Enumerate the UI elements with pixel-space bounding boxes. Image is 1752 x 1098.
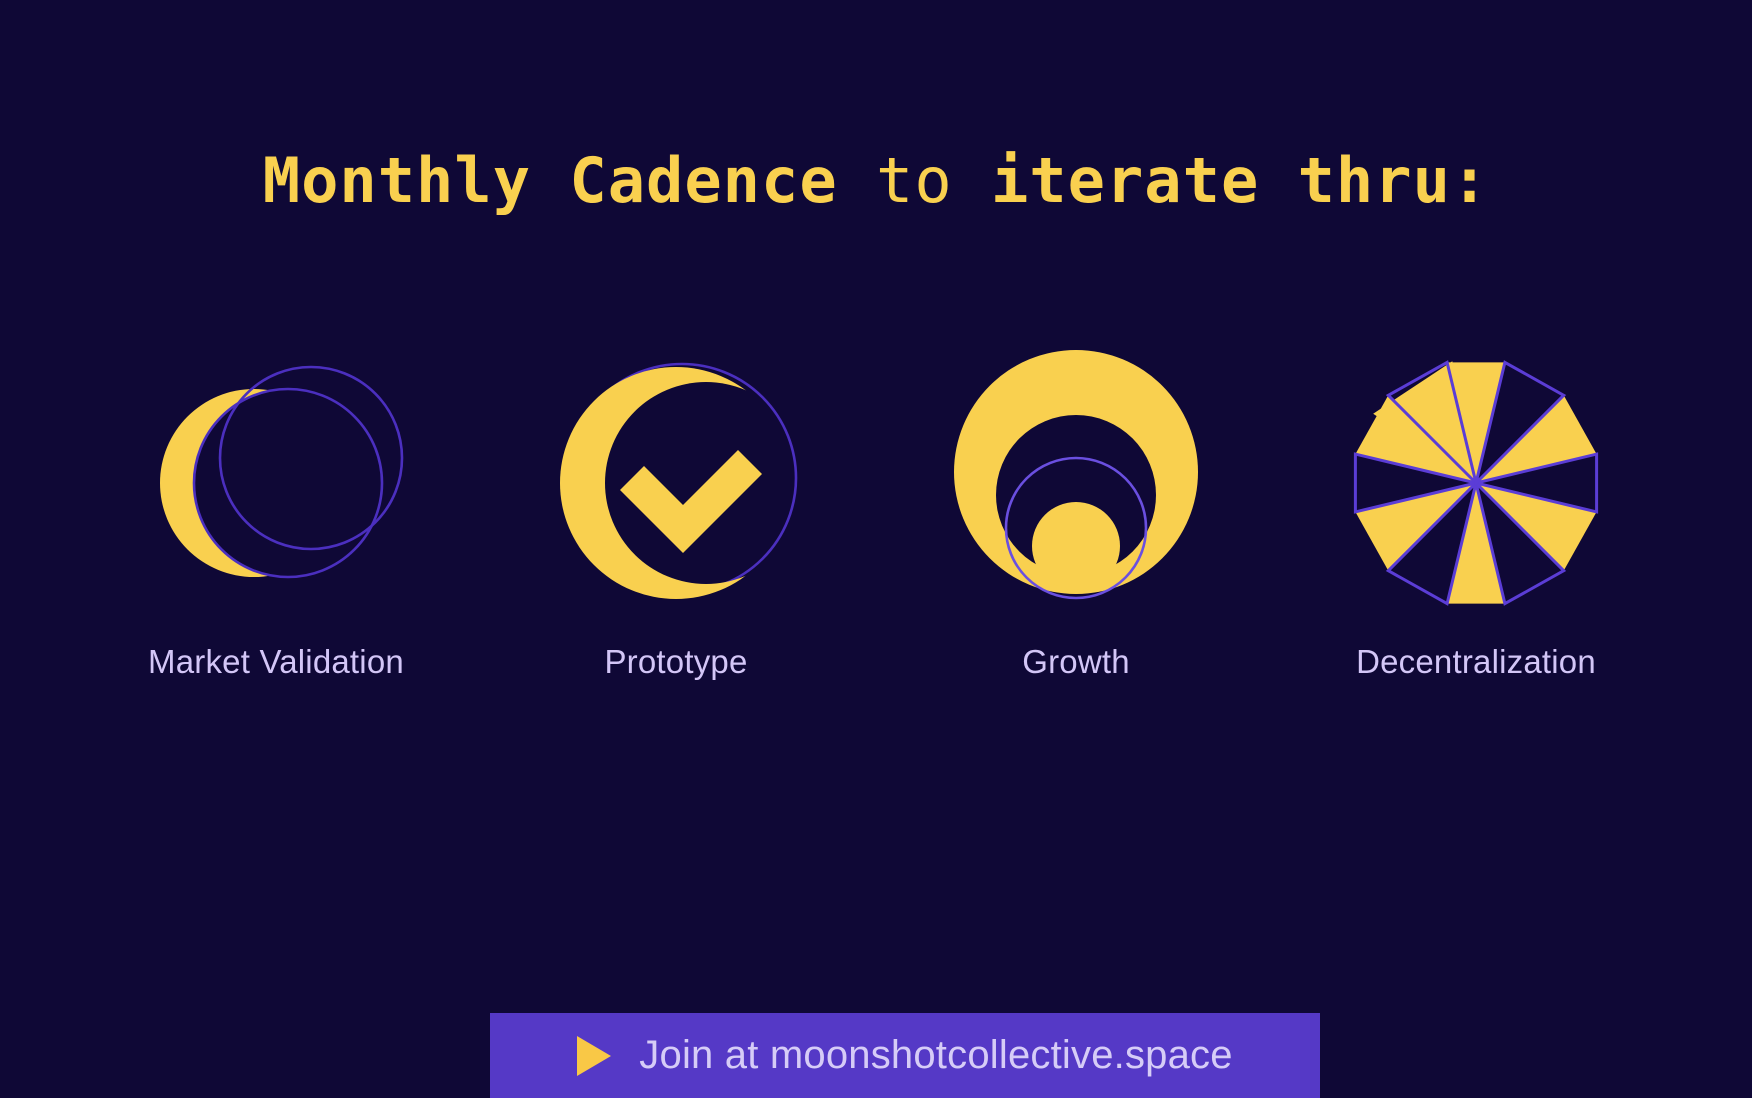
page-title-part-2: to bbox=[838, 144, 991, 217]
crescent-with-checkmark-icon bbox=[546, 350, 806, 615]
stage-label-decentralization: Decentralization bbox=[1356, 643, 1596, 681]
stage-item-market-validation[interactable]: Market Validation bbox=[96, 350, 456, 681]
stage-list: Market Validation bbox=[96, 350, 1656, 740]
crescent-with-two-outline-circles-icon bbox=[146, 350, 406, 615]
concentric-circles-with-dot-icon bbox=[946, 350, 1206, 615]
segmented-pie-wheel-icon bbox=[1346, 350, 1606, 615]
stage-item-prototype[interactable]: Prototype bbox=[496, 350, 856, 681]
page-title-part-3: iterate thru: bbox=[991, 144, 1489, 217]
join-cta-banner[interactable]: Join at moonshotcollective.space bbox=[490, 1013, 1320, 1098]
stage-item-decentralization[interactable]: Decentralization bbox=[1296, 350, 1656, 681]
page-title: Monthly Cadence to iterate thru: bbox=[0, 148, 1752, 213]
page-title-part-1: Monthly Cadence bbox=[263, 144, 838, 217]
play-triangle-icon bbox=[577, 1036, 611, 1076]
stage-label-market-validation: Market Validation bbox=[148, 643, 404, 681]
join-cta-label: Join at moonshotcollective.space bbox=[639, 1033, 1232, 1078]
stage-label-prototype: Prototype bbox=[604, 643, 747, 681]
stage-item-growth[interactable]: Growth bbox=[896, 350, 1256, 681]
slide-root: Monthly Cadence to iterate thru: bbox=[0, 0, 1752, 1098]
stage-label-growth: Growth bbox=[1022, 643, 1130, 681]
